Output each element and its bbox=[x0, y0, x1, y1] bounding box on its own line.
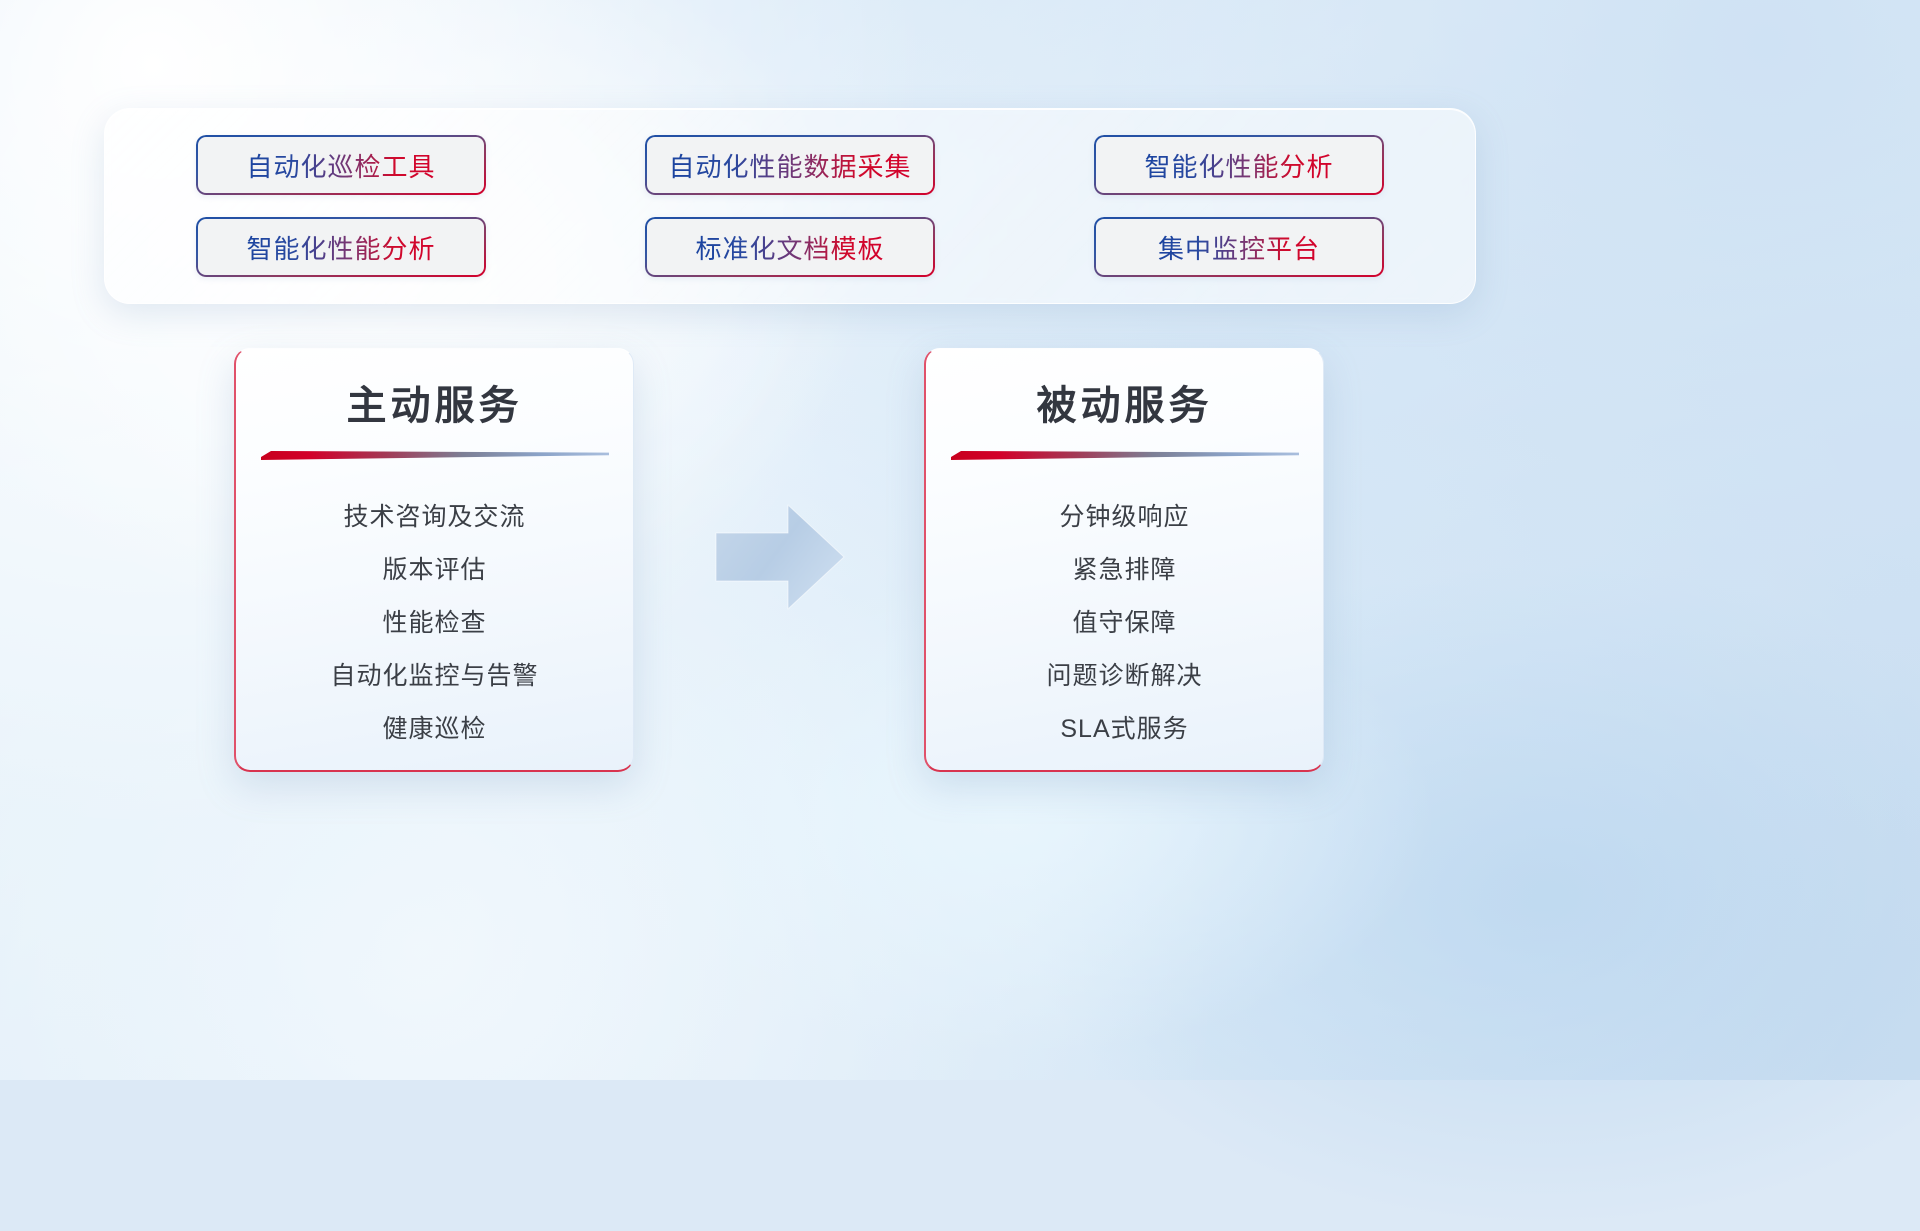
capability-pill-label: 标准化文档模板 bbox=[695, 229, 884, 266]
card-divider-reactive bbox=[951, 449, 1299, 461]
list-item[interactable]: 自动化监控与告警 bbox=[236, 650, 633, 703]
capability-pill-label: 自动化性能数据采集 bbox=[668, 147, 911, 184]
card-title-proactive: 主动服务 bbox=[236, 373, 633, 431]
list-item[interactable]: SLA式服务 bbox=[926, 703, 1323, 756]
flow-arrow-right bbox=[714, 497, 846, 617]
list-item[interactable]: 值守保障 bbox=[926, 597, 1323, 650]
capability-pill-intelligent-performance-analysis-top[interactable]: 智能化性能分析 bbox=[1094, 135, 1384, 195]
list-item[interactable]: 分钟级响应 bbox=[926, 491, 1323, 544]
service-card-reactive[interactable]: 被动服务 分钟级响应 紧急排障 值守保障 问题诊断解决 SLA式服务 bbox=[924, 348, 1324, 772]
capability-pill-label: 集中监控平台 bbox=[1158, 229, 1320, 266]
card-title-reactive: 被动服务 bbox=[926, 373, 1323, 431]
card-divider-proactive bbox=[261, 449, 609, 461]
capability-pill-grid: 自动化巡检工具 自动化性能数据采集 智能化性能分析 智能化性能分析 标准化文档模… bbox=[196, 135, 1384, 277]
capability-pill-label: 智能化性能分析 bbox=[1144, 147, 1333, 184]
service-card-proactive[interactable]: 主动服务 技术咨询及交流 版本评估 性能检查 自动化监控与告警 健康巡检 bbox=[234, 348, 634, 772]
list-item[interactable]: 技术咨询及交流 bbox=[236, 491, 633, 544]
arrow-right-icon bbox=[714, 497, 846, 617]
service-list-reactive: 分钟级响应 紧急排障 值守保障 问题诊断解决 SLA式服务 bbox=[926, 491, 1323, 756]
capability-pill-standardized-document-template[interactable]: 标准化文档模板 bbox=[645, 217, 935, 277]
list-item[interactable]: 紧急排障 bbox=[926, 544, 1323, 597]
capability-pill-automated-inspection-tool[interactable]: 自动化巡检工具 bbox=[196, 135, 486, 195]
capability-pill-intelligent-performance-analysis-bottom[interactable]: 智能化性能分析 bbox=[196, 217, 486, 277]
list-item[interactable]: 版本评估 bbox=[236, 544, 633, 597]
capability-pill-automated-performance-data-collection[interactable]: 自动化性能数据采集 bbox=[645, 135, 935, 195]
list-item[interactable]: 问题诊断解决 bbox=[926, 650, 1323, 703]
list-item[interactable]: 健康巡检 bbox=[236, 703, 633, 756]
capability-pill-label: 自动化巡检工具 bbox=[246, 147, 435, 184]
gradient-wedge-icon bbox=[261, 449, 609, 461]
capability-pill-label: 智能化性能分析 bbox=[246, 229, 435, 266]
list-item[interactable]: 性能检查 bbox=[236, 597, 633, 650]
capability-pill-centralized-monitoring-platform[interactable]: 集中监控平台 bbox=[1094, 217, 1384, 277]
service-list-proactive: 技术咨询及交流 版本评估 性能检查 自动化监控与告警 健康巡检 bbox=[236, 491, 633, 756]
gradient-wedge-icon bbox=[951, 449, 1299, 461]
capability-panel: 自动化巡检工具 自动化性能数据采集 智能化性能分析 智能化性能分析 标准化文档模… bbox=[104, 108, 1476, 304]
